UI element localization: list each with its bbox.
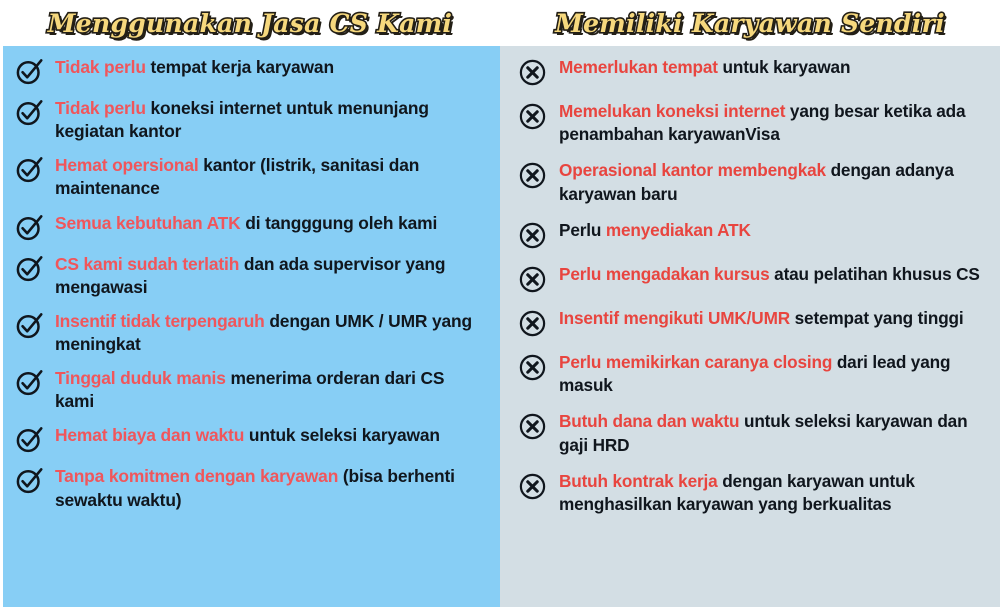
list-item-rest: untuk seleksi karyawan	[244, 425, 440, 445]
list-item-rest: tempat kerja karyawan	[146, 57, 334, 77]
check-circle-icon	[15, 98, 45, 127]
list-item-highlight: Tanpa komitmen dengan karyawan	[55, 466, 338, 486]
list-item-text: Perlu mengadakan kursus atau pelatihan k…	[559, 263, 980, 286]
check-circle-icon	[15, 311, 45, 340]
x-circle-icon	[518, 412, 547, 441]
list-item: Tinggal duduk manis menerima orderan dar…	[15, 367, 478, 413]
list-item-text: Hemat opersional kantor (listrik, sanita…	[55, 154, 478, 200]
right-drawback-list: Memerlukan tempat untuk karyawanMemeluka…	[518, 56, 990, 516]
header-cell-left: Menggunakan Jasa CS Kami	[0, 0, 500, 46]
list-item: Semua kebutuhan ATK di tangggung oleh ka…	[15, 212, 478, 242]
list-item-highlight: Memelukan koneksi internet	[559, 101, 785, 121]
list-item: Tidak perlu tempat kerja karyawan	[15, 56, 478, 86]
list-item-highlight: Perlu memikirkan caranya closing	[559, 352, 832, 372]
list-item-text: Memerlukan tempat untuk karyawan	[559, 56, 850, 79]
comparison-infographic: Menggunakan Jasa CS Kami Memiliki Karyaw…	[0, 0, 1000, 607]
x-circle-icon	[518, 309, 547, 338]
list-item-highlight: Butuh kontrak kerja	[559, 471, 718, 491]
list-item-highlight: Semua kebutuhan ATK	[55, 213, 241, 233]
x-circle-icon	[518, 265, 547, 294]
list-item-highlight: Hemat biaya dan waktu	[55, 425, 244, 445]
list-item-highlight: Memerlukan tempat	[559, 57, 718, 77]
list-item: Memerlukan tempat untuk karyawan	[518, 56, 990, 87]
right-panel: Memerlukan tempat untuk karyawanMemeluka…	[500, 46, 1000, 607]
list-item-text: CS kami sudah terlatih dan ada superviso…	[55, 253, 478, 299]
list-item-rest: di tangggung oleh kami	[241, 213, 438, 233]
list-item-rest: atau pelatihan khusus CS	[770, 264, 980, 284]
list-item-highlight: Insentif tidak terpengaruh	[55, 311, 265, 331]
left-benefit-list: Tidak perlu tempat kerja karyawanTidak p…	[15, 56, 478, 512]
list-item: Operasional kantor membengkak dengan ada…	[518, 159, 990, 205]
list-item-text: Hemat biaya dan waktu untuk seleksi kary…	[55, 424, 440, 447]
list-item: Butuh dana dan waktu untuk seleksi karya…	[518, 410, 990, 456]
check-circle-icon	[15, 254, 45, 283]
list-item-text: Tidak perlu koneksi internet untuk menun…	[55, 97, 478, 143]
x-circle-icon	[518, 472, 547, 501]
list-item-highlight: Tidak perlu	[55, 57, 146, 77]
list-item: Memelukan koneksi internet yang besar ke…	[518, 100, 990, 146]
list-item: CS kami sudah terlatih dan ada superviso…	[15, 253, 478, 299]
left-panel-title: Menggunakan Jasa CS Kami	[48, 9, 452, 38]
list-item-rest: untuk karyawan	[718, 57, 850, 77]
x-circle-icon	[518, 102, 547, 131]
list-item-highlight: Insentif mengikuti UMK/UMR	[559, 308, 790, 328]
check-circle-icon	[15, 213, 45, 242]
x-circle-icon	[518, 161, 547, 190]
list-item-highlight: menyediakan ATK	[606, 220, 751, 240]
list-item: Perlu mengadakan kursus atau pelatihan k…	[518, 263, 990, 294]
check-circle-icon	[15, 155, 45, 184]
list-item-text: Insentif tidak terpengaruh dengan UMK / …	[55, 310, 478, 356]
list-item-lead: Perlu	[559, 220, 606, 240]
x-circle-icon	[518, 353, 547, 382]
list-item-text: Butuh dana dan waktu untuk seleksi karya…	[559, 410, 990, 456]
list-item-text: Tidak perlu tempat kerja karyawan	[55, 56, 334, 79]
list-item: Tidak perlu koneksi internet untuk menun…	[15, 97, 478, 143]
list-item-text: Memelukan koneksi internet yang besar ke…	[559, 100, 990, 146]
list-item-highlight: Tinggal duduk manis	[55, 368, 226, 388]
list-item-text: Perlu menyediakan ATK	[559, 219, 751, 242]
list-item: Insentif mengikuti UMK/UMR setempat yang…	[518, 307, 990, 338]
list-item-text: Butuh kontrak kerja dengan karyawan untu…	[559, 470, 990, 516]
list-item: Perlu memikirkan caranya closing dari le…	[518, 351, 990, 397]
check-circle-icon	[15, 368, 45, 397]
list-item: Hemat biaya dan waktu untuk seleksi kary…	[15, 424, 478, 454]
list-item-text: Perlu memikirkan caranya closing dari le…	[559, 351, 990, 397]
list-item-text: Tinggal duduk manis menerima orderan dar…	[55, 367, 478, 413]
check-circle-icon	[15, 425, 45, 454]
header-band: Menggunakan Jasa CS Kami Memiliki Karyaw…	[0, 0, 1000, 46]
list-item: Tanpa komitmen dengan karyawan (bisa ber…	[15, 465, 478, 511]
list-item-highlight: Hemat opersional	[55, 155, 199, 175]
panels-container: Tidak perlu tempat kerja karyawanTidak p…	[0, 46, 1000, 607]
list-item-text: Operasional kantor membengkak dengan ada…	[559, 159, 990, 205]
right-panel-title: Memiliki Karyawan Sendiri	[555, 9, 945, 38]
list-item: Insentif tidak terpengaruh dengan UMK / …	[15, 310, 478, 356]
x-circle-icon	[518, 58, 547, 87]
x-circle-icon	[518, 221, 547, 250]
check-circle-icon	[15, 466, 45, 495]
list-item-highlight: Operasional kantor membengkak	[559, 160, 826, 180]
list-item-highlight: CS kami sudah terlatih	[55, 254, 239, 274]
list-item: Perlu menyediakan ATK	[518, 219, 990, 250]
list-item-highlight: Tidak perlu	[55, 98, 146, 118]
header-cell-right: Memiliki Karyawan Sendiri	[500, 0, 1000, 46]
list-item-rest: setempat yang tinggi	[790, 308, 964, 328]
check-circle-icon	[15, 57, 45, 86]
list-item-highlight: Butuh dana dan waktu	[559, 411, 739, 431]
list-item: Hemat opersional kantor (listrik, sanita…	[15, 154, 478, 200]
list-item-text: Insentif mengikuti UMK/UMR setempat yang…	[559, 307, 964, 330]
list-item-text: Semua kebutuhan ATK di tangggung oleh ka…	[55, 212, 437, 235]
list-item: Butuh kontrak kerja dengan karyawan untu…	[518, 470, 990, 516]
left-panel: Tidak perlu tempat kerja karyawanTidak p…	[3, 46, 500, 607]
list-item-text: Tanpa komitmen dengan karyawan (bisa ber…	[55, 465, 478, 511]
list-item-highlight: Perlu mengadakan kursus	[559, 264, 770, 284]
